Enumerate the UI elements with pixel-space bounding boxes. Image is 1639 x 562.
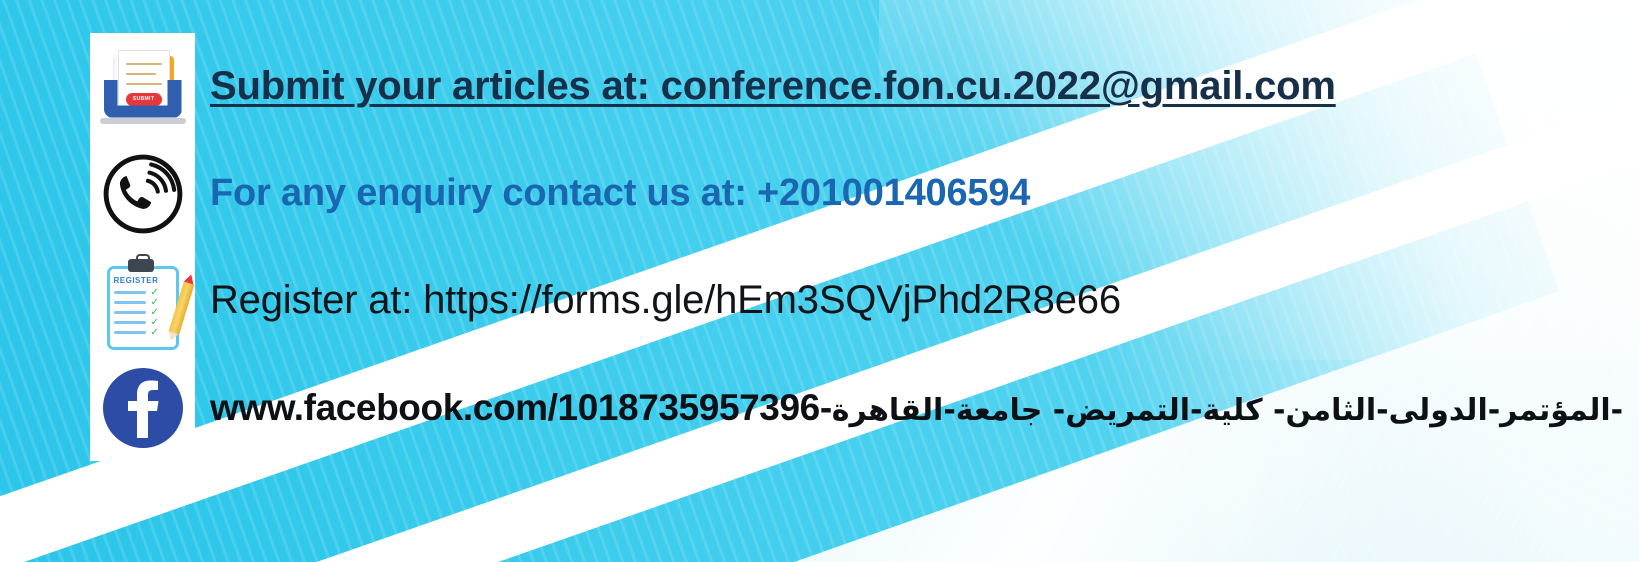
facebook-url-arabic: -المؤتمر-الدولى-الثامن- كلية-التمريض- جا…	[832, 393, 1623, 428]
content-layer: SUBMIT REGISTE	[0, 0, 1639, 562]
submit-button-graphic: SUBMIT	[126, 93, 162, 106]
row-register: Register at: https://forms.gle/hEm3SQVjP…	[210, 247, 1630, 354]
check-icon: ✓	[151, 308, 160, 317]
paper-line	[126, 73, 156, 75]
text-rows: Submit your articles at: conference.fon.…	[210, 33, 1630, 461]
row-enquiry: For any enquiry contact us at: +20100140…	[210, 140, 1630, 247]
paper-sheet: SUBMIT	[118, 50, 170, 114]
clipboard-clip	[128, 259, 154, 272]
row-facebook: www.facebook.com/1018735957396--المؤتمر-…	[210, 354, 1630, 461]
paper-line	[126, 83, 162, 85]
checklist-line	[114, 311, 146, 314]
paper-line	[126, 63, 162, 65]
checklist-line	[114, 331, 146, 334]
check-icon: ✓	[151, 328, 160, 337]
enquiry-contact-text[interactable]: For any enquiry contact us at: +20100140…	[210, 172, 1030, 215]
clipboard-title: REGISTER	[114, 276, 159, 285]
register-label: Register at:	[210, 278, 412, 323]
check-icon: ✓	[151, 288, 160, 297]
checklist-line	[114, 321, 146, 324]
icon-cell-register: REGISTER ✓ ✓ ✓ ✓ ✓	[90, 247, 195, 354]
tray-base-shape	[100, 118, 186, 124]
icon-column: SUBMIT REGISTE	[90, 33, 195, 461]
icon-cell-facebook	[90, 354, 195, 461]
row-submit: Submit your articles at: conference.fon.…	[210, 33, 1630, 140]
facebook-url-text[interactable]: www.facebook.com/1018735957396--المؤتمر-…	[210, 387, 1623, 429]
facebook-url-latin: www.facebook.com/1018735957396-	[210, 387, 832, 429]
check-icon: ✓	[151, 318, 160, 327]
submit-articles-text[interactable]: Submit your articles at: conference.fon.…	[210, 64, 1336, 109]
register-clipboard-icon: REGISTER ✓ ✓ ✓ ✓ ✓	[101, 258, 185, 344]
submit-tray-icon: SUBMIT	[100, 46, 186, 128]
facebook-icon	[103, 368, 183, 448]
slide-canvas: SUBMIT REGISTE	[0, 0, 1639, 562]
icon-cell-submit: SUBMIT	[90, 33, 195, 140]
checklist-line	[114, 291, 146, 294]
check-icon: ✓	[151, 298, 160, 307]
icon-cell-phone	[90, 140, 195, 247]
register-link[interactable]: https://forms.gle/hEm3SQVjPhd2R8e66	[423, 278, 1121, 323]
phone-call-icon	[102, 153, 184, 235]
facebook-f-glyph	[121, 378, 165, 438]
checklist-line	[114, 301, 146, 304]
